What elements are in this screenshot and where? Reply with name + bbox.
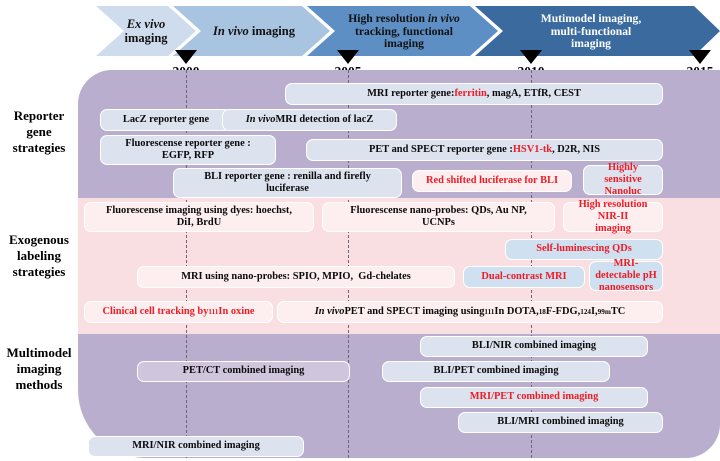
item-mri-reporter-gene[interactable]: MRI reporter gene: ferritin, magA, ETfR,… <box>285 83 663 105</box>
item-pet-ct-combined[interactable]: PET/CT combined imaging <box>137 361 350 382</box>
item-mri-nir-combined[interactable]: MRI/NIR combined imaging <box>88 436 304 457</box>
item-clinical-cell-tracking[interactable]: Clinical cell tracking by 111In oxine <box>84 301 273 323</box>
phase-arrow-1: In vivo imaging <box>180 6 328 56</box>
year-tick-2010 <box>520 50 542 64</box>
phase-arrow-1-label: In vivo imaging <box>180 24 328 38</box>
item-highly-sensitive-nanoluc[interactable]: Highly sensitiveNanoluc <box>583 165 663 195</box>
phase-arrow-2-label: High resolution in vivotracking, functio… <box>312 12 496 51</box>
row-label-reporter-gene: Reportergenestrategies <box>0 108 78 156</box>
row-label-exogenous: Exogenouslabelingstrategies <box>0 232 78 280</box>
timeline-arrow-band: Ex vivoimaging In vivo imaging High reso… <box>0 0 720 62</box>
item-dual-contrast-mri[interactable]: Dual-contrast MRI <box>463 266 585 288</box>
item-bli-nir-combined[interactable]: BLI/NIR combined imaging <box>420 336 648 357</box>
row-label-multimodel: Multimodelimagingmethods <box>0 345 78 393</box>
item-nir2-imaging[interactable]: High resolution NIR-IIimaging <box>563 202 663 232</box>
phase-arrow-0-label: Ex vivoimaging <box>100 17 192 45</box>
timeline-figure: Ex vivoimaging In vivo imaging High reso… <box>0 0 720 461</box>
item-pet-spect-reporter-gene[interactable]: PET and SPECT reporter gene : HSV1-tk, D… <box>306 139 663 161</box>
year-tick-2005 <box>337 50 359 64</box>
item-bli-mri-combined[interactable]: BLI/MRI combined imaging <box>458 412 663 433</box>
item-mri-pet-combined[interactable]: MRI/PET combined imaging <box>420 387 648 408</box>
phase-arrow-3-label: Mutimodel imaging,multi-functionalimagin… <box>482 12 700 51</box>
item-fluorescense-reporter-gene[interactable]: Fluorescense reporter gene :EGFP, RFP <box>100 135 276 165</box>
item-fluorescense-dyes[interactable]: Fluorescense imaging using dyes: hoechst… <box>84 202 314 232</box>
year-tick-2015 <box>689 50 711 64</box>
phase-arrow-0: Ex vivoimaging <box>100 6 192 56</box>
item-mri-nanoprobes[interactable]: MRI using nano-probes: SPIO, MPIO, Gd-ch… <box>137 266 455 288</box>
year-tick-2000 <box>175 50 197 64</box>
item-fluorescense-nanoprobes[interactable]: Fluorescense nano-probes: QDs, Au NP,UCN… <box>322 202 555 232</box>
phase-arrow-2: High resolution in vivotracking, functio… <box>312 6 496 56</box>
item-lacz-reporter-gene[interactable]: LacZ reporter gene <box>100 109 232 131</box>
item-bli-pet-combined[interactable]: BLI/PET combined imaging <box>382 361 610 382</box>
phase-arrow-3: Mutimodel imaging,multi-functionalimagin… <box>482 6 700 56</box>
item-invivo-pet-spect-imaging[interactable]: In vivo PET and SPECT imaging using 111I… <box>277 301 663 323</box>
item-ph-nanosensors[interactable]: MRI-detectable pHnanosensors <box>589 261 663 291</box>
item-red-shifted-luciferase[interactable]: Red shifted luciferase for BLI <box>412 170 572 192</box>
item-bli-reporter-gene[interactable]: BLI reporter gene : renilla and fireflyl… <box>173 168 402 198</box>
item-invivo-mri-lacz[interactable]: In vivo MRI detection of lacZ <box>222 109 397 131</box>
